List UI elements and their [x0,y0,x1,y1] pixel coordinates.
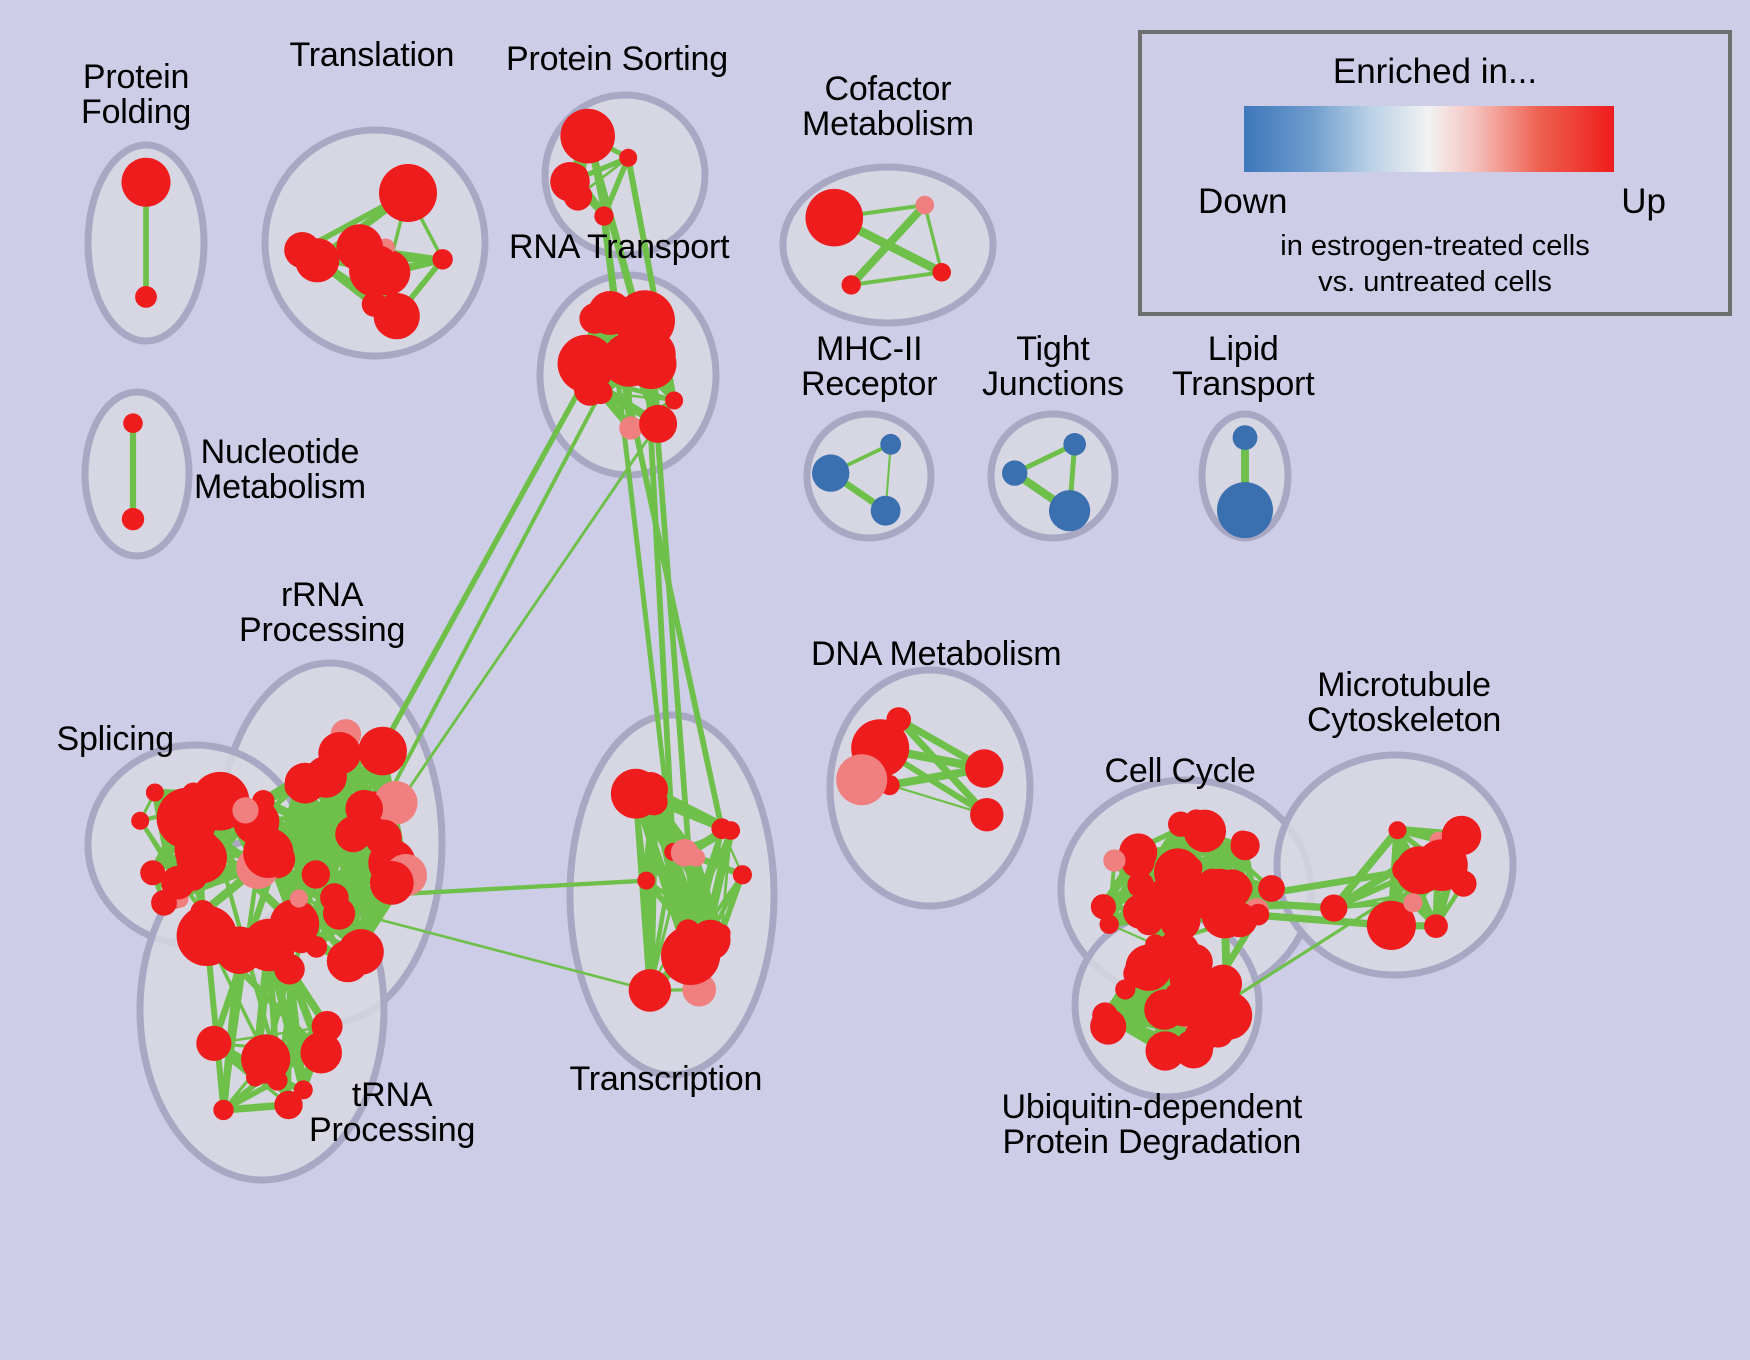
network-node[interactable] [187,785,223,821]
network-node[interactable] [243,828,293,878]
network-node[interactable] [290,889,308,907]
legend-caption-line-1: in estrogen-treated cells [1142,230,1728,263]
network-node[interactable] [1403,893,1422,912]
cluster-label-rrna_processing: rRNA Processing [239,578,405,649]
network-node[interactable] [370,861,414,905]
cluster-label-nucleotide_metab: Nucleotide Metabolism [194,435,366,506]
cluster-label-tight_junctions: Tight Junctions [982,332,1124,403]
network-node[interactable] [880,434,901,455]
network-node[interactable] [300,1032,342,1074]
network-node[interactable] [216,927,263,974]
network-node[interactable] [639,405,677,443]
network-node[interactable] [1258,875,1285,902]
network-node[interactable] [1217,482,1273,538]
network-node[interactable] [1063,433,1086,456]
network-node[interactable] [1181,857,1203,879]
network-node[interactable] [1392,858,1416,882]
cluster-label-protein_sorting: Protein Sorting [506,42,728,77]
network-node[interactable] [213,1100,233,1120]
network-node[interactable] [564,164,588,188]
network-node[interactable] [812,454,849,491]
network-node[interactable] [671,839,699,867]
network-node[interactable] [611,769,661,819]
network-node[interactable] [589,381,612,404]
network-node[interactable] [306,936,328,958]
network-node[interactable] [241,1034,290,1083]
network-node[interactable] [318,732,361,775]
network-node[interactable] [970,798,1003,831]
cluster-label-protein_folding: Protein Folding [81,60,191,131]
network-node[interactable] [886,707,911,732]
network-node[interactable] [285,763,326,804]
network-node[interactable] [1115,979,1135,999]
network-node[interactable] [1093,1003,1117,1027]
cluster-label-cell_cycle: Cell Cycle [1105,754,1256,789]
network-node[interactable] [842,275,861,294]
cluster-label-splicing: Splicing [57,722,174,757]
network-node[interactable] [1202,892,1248,938]
legend-low-label: Down [1198,182,1287,222]
network-node[interactable] [122,508,144,530]
network-node[interactable] [146,784,164,802]
network-node[interactable] [1231,831,1260,860]
network-node[interactable] [1151,884,1198,931]
network-node[interactable] [625,351,653,379]
network-node[interactable] [637,872,655,890]
network-node[interactable] [916,196,935,215]
network-node[interactable] [965,749,1003,787]
network-node[interactable] [274,954,305,985]
network-node[interactable] [302,860,330,888]
network-node[interactable] [122,158,171,207]
network-node[interactable] [131,812,149,830]
network-node[interactable] [1185,809,1208,832]
network-node[interactable] [379,164,437,222]
network-node[interactable] [123,413,143,433]
network-node[interactable] [711,818,732,839]
network-node[interactable] [365,820,402,857]
network-node[interactable] [347,942,367,962]
network-node[interactable] [1233,425,1258,450]
network-node[interactable] [1389,821,1407,839]
legend-caption-line-2: vs. untreated cells [1142,266,1728,299]
network-node[interactable] [135,286,157,308]
network-node[interactable] [588,291,632,335]
network-node[interactable] [619,149,637,167]
network-node[interactable] [932,263,951,282]
legend-color-gradient-bar [1244,106,1614,172]
cluster-label-translation: Translation [290,38,455,73]
network-node[interactable] [560,109,615,164]
cluster-label-lipid_transport: Lipid Transport [1172,332,1314,403]
cluster-label-ubiquitin: Ubiquitin-dependent Protein Degradation [1002,1090,1303,1161]
cluster-label-cofactor_metab: Cofactor Metabolism [802,72,974,143]
network-node[interactable] [1103,849,1125,871]
cluster-label-trna_processing: tRNA Processing [309,1078,475,1149]
network-node[interactable] [1002,460,1027,485]
legend-box: Enriched in... Down Up in estrogen-treat… [1138,30,1732,316]
network-node[interactable] [320,883,349,912]
network-node[interactable] [619,416,642,439]
network-node[interactable] [1144,989,1184,1029]
network-node[interactable] [836,754,887,805]
network-node[interactable] [594,206,613,225]
cluster-label-rna_transport: RNA Transport [509,230,729,265]
network-node[interactable] [151,890,177,916]
legend-high-label: Up [1621,182,1666,222]
legend-title: Enriched in... [1142,52,1728,92]
network-node[interactable] [232,797,258,823]
network-node[interactable] [1320,895,1347,922]
network-node[interactable] [570,363,594,387]
network-node[interactable] [661,926,720,985]
network-node[interactable] [665,392,683,410]
network-node[interactable] [806,189,864,247]
network-node[interactable] [733,865,752,884]
network-node[interactable] [871,496,901,526]
network-node[interactable] [1167,1037,1188,1058]
network-node[interactable] [1416,839,1468,891]
network-node[interactable] [1424,914,1448,938]
network-node[interactable] [1049,490,1090,531]
enrichment-network-figure: Protein FoldingTranslationProtein Sortin… [0,0,1750,1360]
network-node[interactable] [1127,872,1154,899]
network-node[interactable] [1196,991,1233,1028]
cluster-label-transcription: Transcription [570,1062,763,1097]
cluster-label-mhc_ii: MHC-II Receptor [801,332,937,403]
network-node[interactable] [284,232,320,268]
network-node[interactable] [358,727,407,776]
network-node[interactable] [196,1026,231,1061]
network-node[interactable] [629,969,672,1012]
network-node[interactable] [349,245,401,297]
cluster-label-microtubule: Microtubule Cytoskeleton [1307,668,1501,739]
network-node[interactable] [432,249,452,269]
network-node[interactable] [1091,894,1116,919]
cluster-label-dna_metabolism: DNA Metabolism [811,637,1061,672]
network-node[interactable] [627,323,657,353]
